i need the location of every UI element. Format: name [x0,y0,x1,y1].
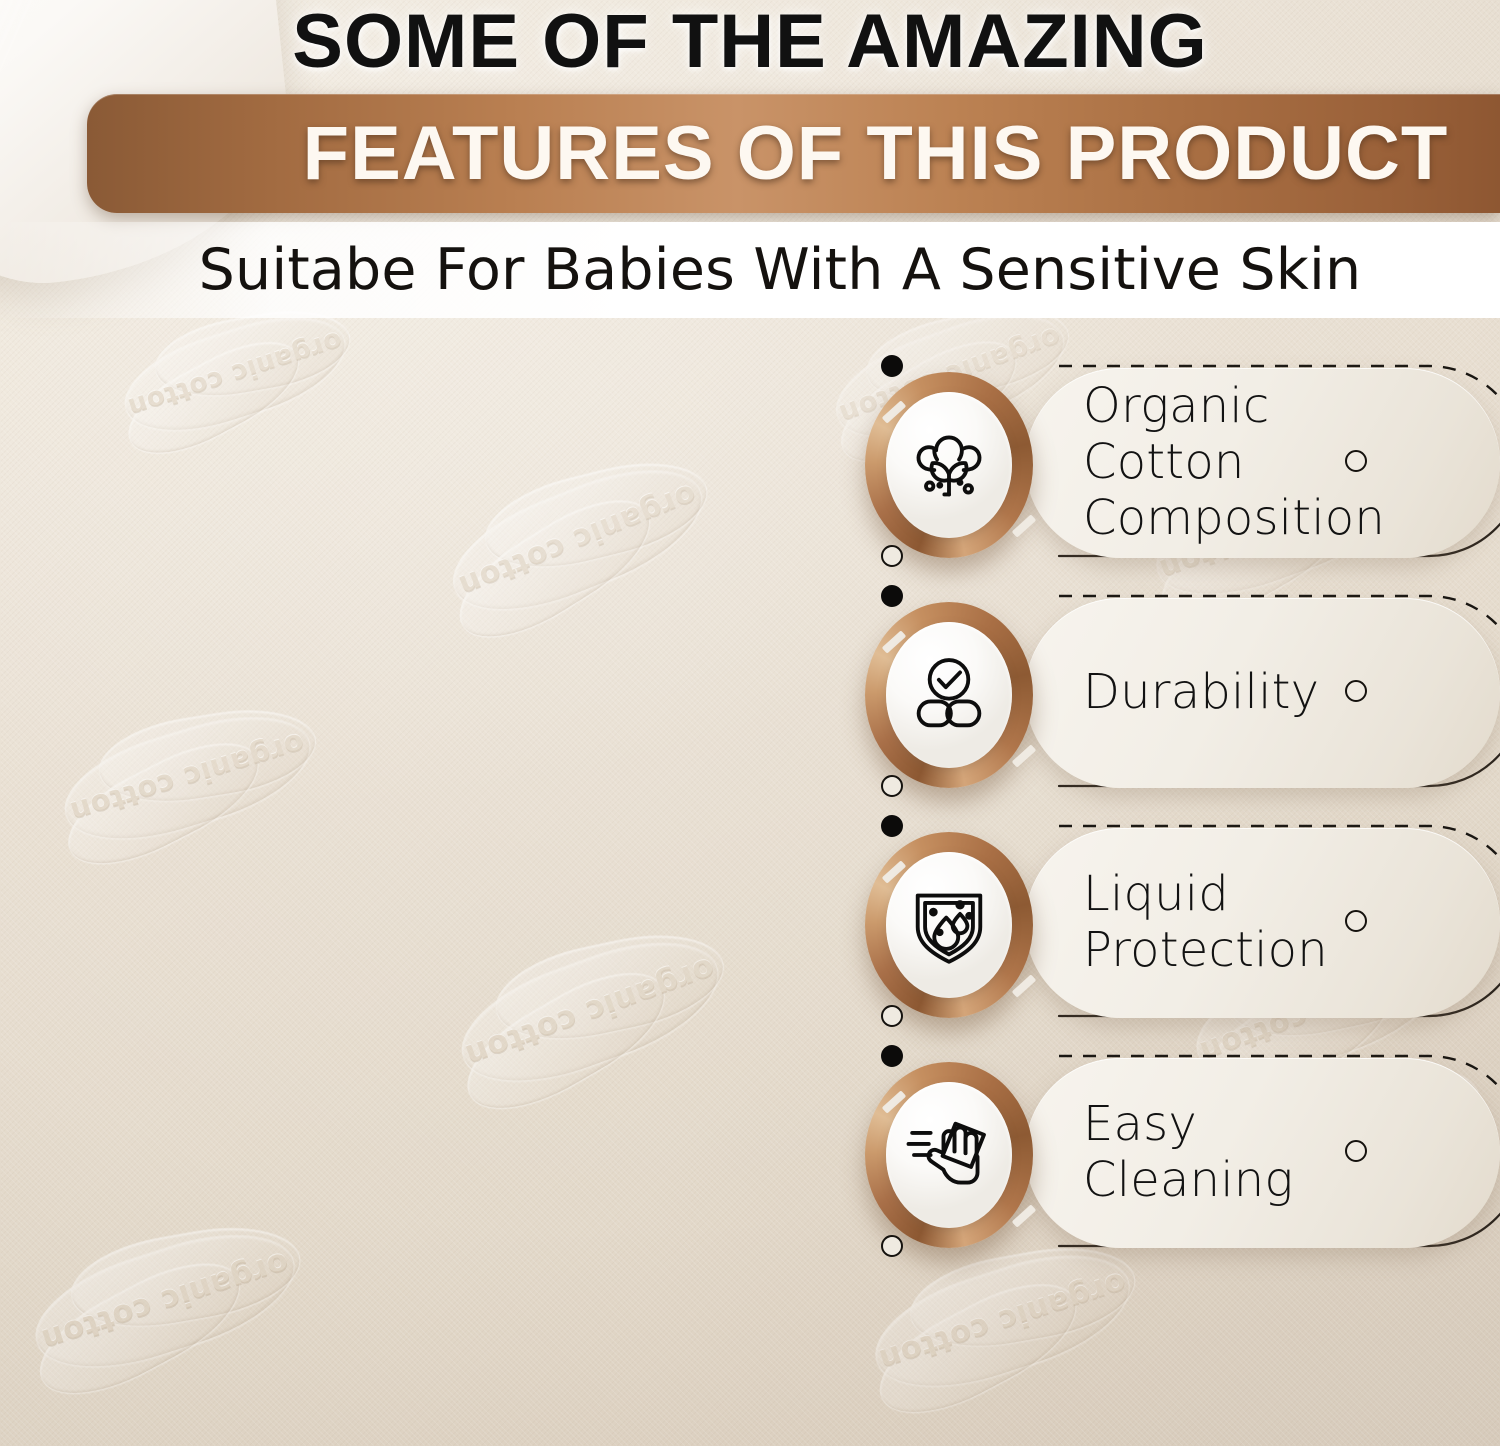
connector-dot-filled [881,815,903,837]
feature-card[interactable]: Liquid Protection [1025,828,1500,1018]
connector-dot-filled [881,1045,903,1067]
ring-gap [1012,1204,1037,1227]
connector-dot-hollow [1345,1140,1367,1162]
connector-dot-hollow [881,1005,903,1027]
feature-icon-medallion[interactable] [855,1046,1023,1264]
medallion-disc [886,852,1012,998]
medallion-disc [886,1082,1012,1228]
feature-card[interactable]: Organic Cotton Composition [1025,368,1500,558]
feature-icon-medallion[interactable] [855,586,1023,804]
connector-dot-hollow [1345,450,1367,472]
ring-gap [1012,514,1037,537]
connector-dot-hollow [1345,680,1367,702]
infographic-canvas: organic cottonorganic cottonorganic cott… [0,0,1500,1446]
medallion-disc [886,392,1012,538]
medallion-disc [886,622,1012,768]
feature-row[interactable]: Organic Cotton Composition [855,348,1500,578]
feature-icon-medallion[interactable] [855,356,1023,574]
hand-wiping-cloth-icon [903,1109,995,1201]
shield-water-drop-icon [903,879,995,971]
ring-gap [1012,744,1037,767]
header-eyebrow: SOME OF THE AMAZING [0,4,1500,80]
feature-row[interactable]: Durability [855,578,1500,808]
check-chain-link-icon [903,649,995,741]
feature-row[interactable]: Liquid Protection [855,808,1500,1038]
header-banner-title: FEATURES OF THIS PRODUCT [87,94,1500,213]
feature-card[interactable]: Easy Cleaning [1025,1058,1500,1248]
connector-dot-hollow [1345,910,1367,932]
connector-dot-hollow [881,545,903,567]
ring-gap [1012,974,1037,997]
feature-row[interactable]: Easy Cleaning [855,1038,1500,1268]
feature-icon-medallion[interactable] [855,816,1023,1034]
feature-list: Organic Cotton Composition Durabilit [855,348,1500,1268]
feature-card[interactable]: Durability [1025,598,1500,788]
connector-dot-hollow [881,1235,903,1257]
connector-dot-filled [881,585,903,607]
cotton-boll-icon [903,419,995,511]
header-subtitle: Suitabe For Babies With A Sensitive Skin [0,222,1500,318]
connector-dot-hollow [881,775,903,797]
connector-dot-filled [881,355,903,377]
